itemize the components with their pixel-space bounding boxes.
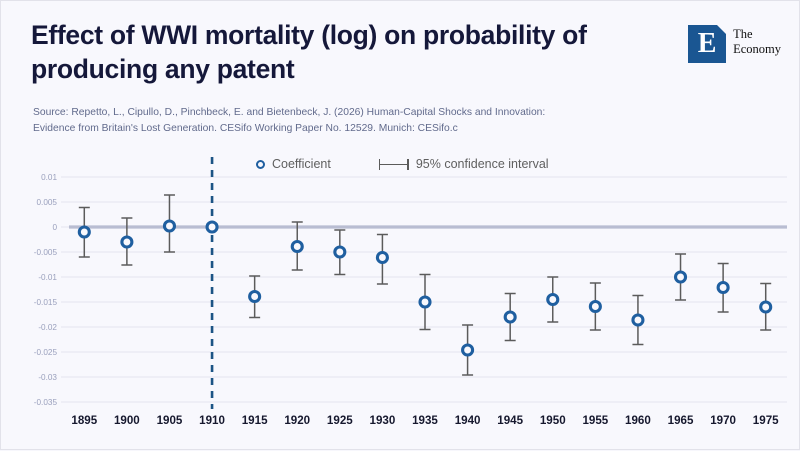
x-axis-tick-label: 1940	[455, 414, 481, 427]
x-axis-tick-label: 1910	[199, 414, 225, 427]
coefficient-marker	[292, 242, 302, 252]
x-axis-tick-label: 1905	[157, 414, 183, 427]
y-axis-tick-label: -0.015	[34, 298, 58, 307]
coefficient-marker	[590, 302, 600, 312]
data-point-group	[164, 195, 175, 252]
data-points-layer	[79, 195, 771, 375]
x-axis-ticks: 1895190019051910191519201925193019351940…	[71, 414, 779, 427]
chart-plot-area: 0.010.0050-0.005-0.01-0.015-0.02-0.025-0…	[1, 1, 800, 451]
x-axis-tick-label: 1945	[497, 414, 523, 427]
chart-legend: Coefficient 95% confidence interval	[256, 154, 549, 174]
y-axis-tick-label: -0.01	[38, 273, 57, 282]
x-axis-tick-label: 1955	[582, 414, 608, 427]
data-point-group	[292, 222, 303, 270]
y-axis-ticks: 0.010.0050-0.005-0.01-0.015-0.02-0.025-0…	[34, 173, 69, 407]
x-axis-tick-label: 1970	[710, 414, 736, 427]
x-axis-tick-label: 1975	[753, 414, 779, 427]
coefficient-marker	[505, 312, 515, 322]
data-point-group	[249, 276, 260, 318]
data-point-group	[590, 283, 601, 330]
y-axis-tick-label: -0.005	[34, 248, 58, 257]
y-axis-tick-label: -0.035	[34, 398, 58, 407]
data-point-group	[760, 284, 771, 331]
coefficient-marker	[463, 345, 473, 355]
chart-svg: 0.010.0050-0.005-0.01-0.015-0.02-0.025-0…	[1, 1, 800, 451]
x-axis-tick-label: 1895	[71, 414, 97, 427]
x-axis-tick-label: 1950	[540, 414, 566, 427]
data-point-group	[121, 218, 132, 265]
coefficient-marker	[79, 227, 89, 237]
data-point-group	[334, 230, 345, 275]
data-point-group	[547, 277, 558, 322]
data-point-group	[462, 325, 473, 375]
coefficient-marker	[718, 283, 728, 293]
y-axis-tick-label: 0.01	[41, 173, 57, 182]
confidence-interval-icon	[379, 159, 409, 170]
y-axis-tick-label: -0.02	[38, 323, 57, 332]
x-axis-tick-label: 1930	[370, 414, 396, 427]
legend-item-confidence-interval: 95% confidence interval	[379, 157, 549, 171]
data-point-group	[505, 294, 516, 341]
legend-label-coefficient: Coefficient	[272, 157, 331, 171]
data-point-group	[632, 296, 643, 345]
y-axis-tick-label: 0.005	[37, 198, 58, 207]
data-point-group	[420, 275, 431, 330]
data-point-group	[79, 208, 90, 258]
coefficient-marker	[122, 237, 132, 247]
coefficient-marker	[761, 302, 771, 312]
coefficient-marker	[164, 221, 174, 231]
coefficient-marker	[250, 292, 260, 302]
x-axis-tick-label: 1900	[114, 414, 140, 427]
coefficient-marker	[377, 253, 387, 263]
coefficient-marker	[548, 295, 558, 305]
y-axis-tick-label: -0.025	[34, 348, 58, 357]
grid-lines	[69, 177, 787, 402]
data-point-group	[675, 254, 686, 300]
y-axis-tick-label: 0	[52, 223, 57, 232]
x-axis-tick-label: 1925	[327, 414, 353, 427]
legend-label-confidence-interval: 95% confidence interval	[416, 157, 549, 171]
coefficient-marker	[633, 315, 643, 325]
coefficient-marker	[676, 272, 686, 282]
x-axis-tick-label: 1915	[242, 414, 268, 427]
x-axis-tick-label: 1965	[668, 414, 694, 427]
coefficient-marker	[335, 247, 345, 257]
legend-item-coefficient: Coefficient	[256, 157, 331, 171]
chart-page: Effect of WWI mortality (log) on probabi…	[0, 0, 800, 450]
coefficient-marker-icon	[256, 160, 265, 169]
x-axis-tick-label: 1920	[284, 414, 310, 427]
data-point-group	[207, 222, 218, 232]
coefficient-marker	[420, 297, 430, 307]
x-axis-tick-label: 1960	[625, 414, 651, 427]
data-point-group	[718, 264, 729, 313]
coefficient-marker	[207, 222, 217, 232]
x-axis-tick-label: 1935	[412, 414, 438, 427]
y-axis-tick-label: -0.03	[38, 373, 57, 382]
